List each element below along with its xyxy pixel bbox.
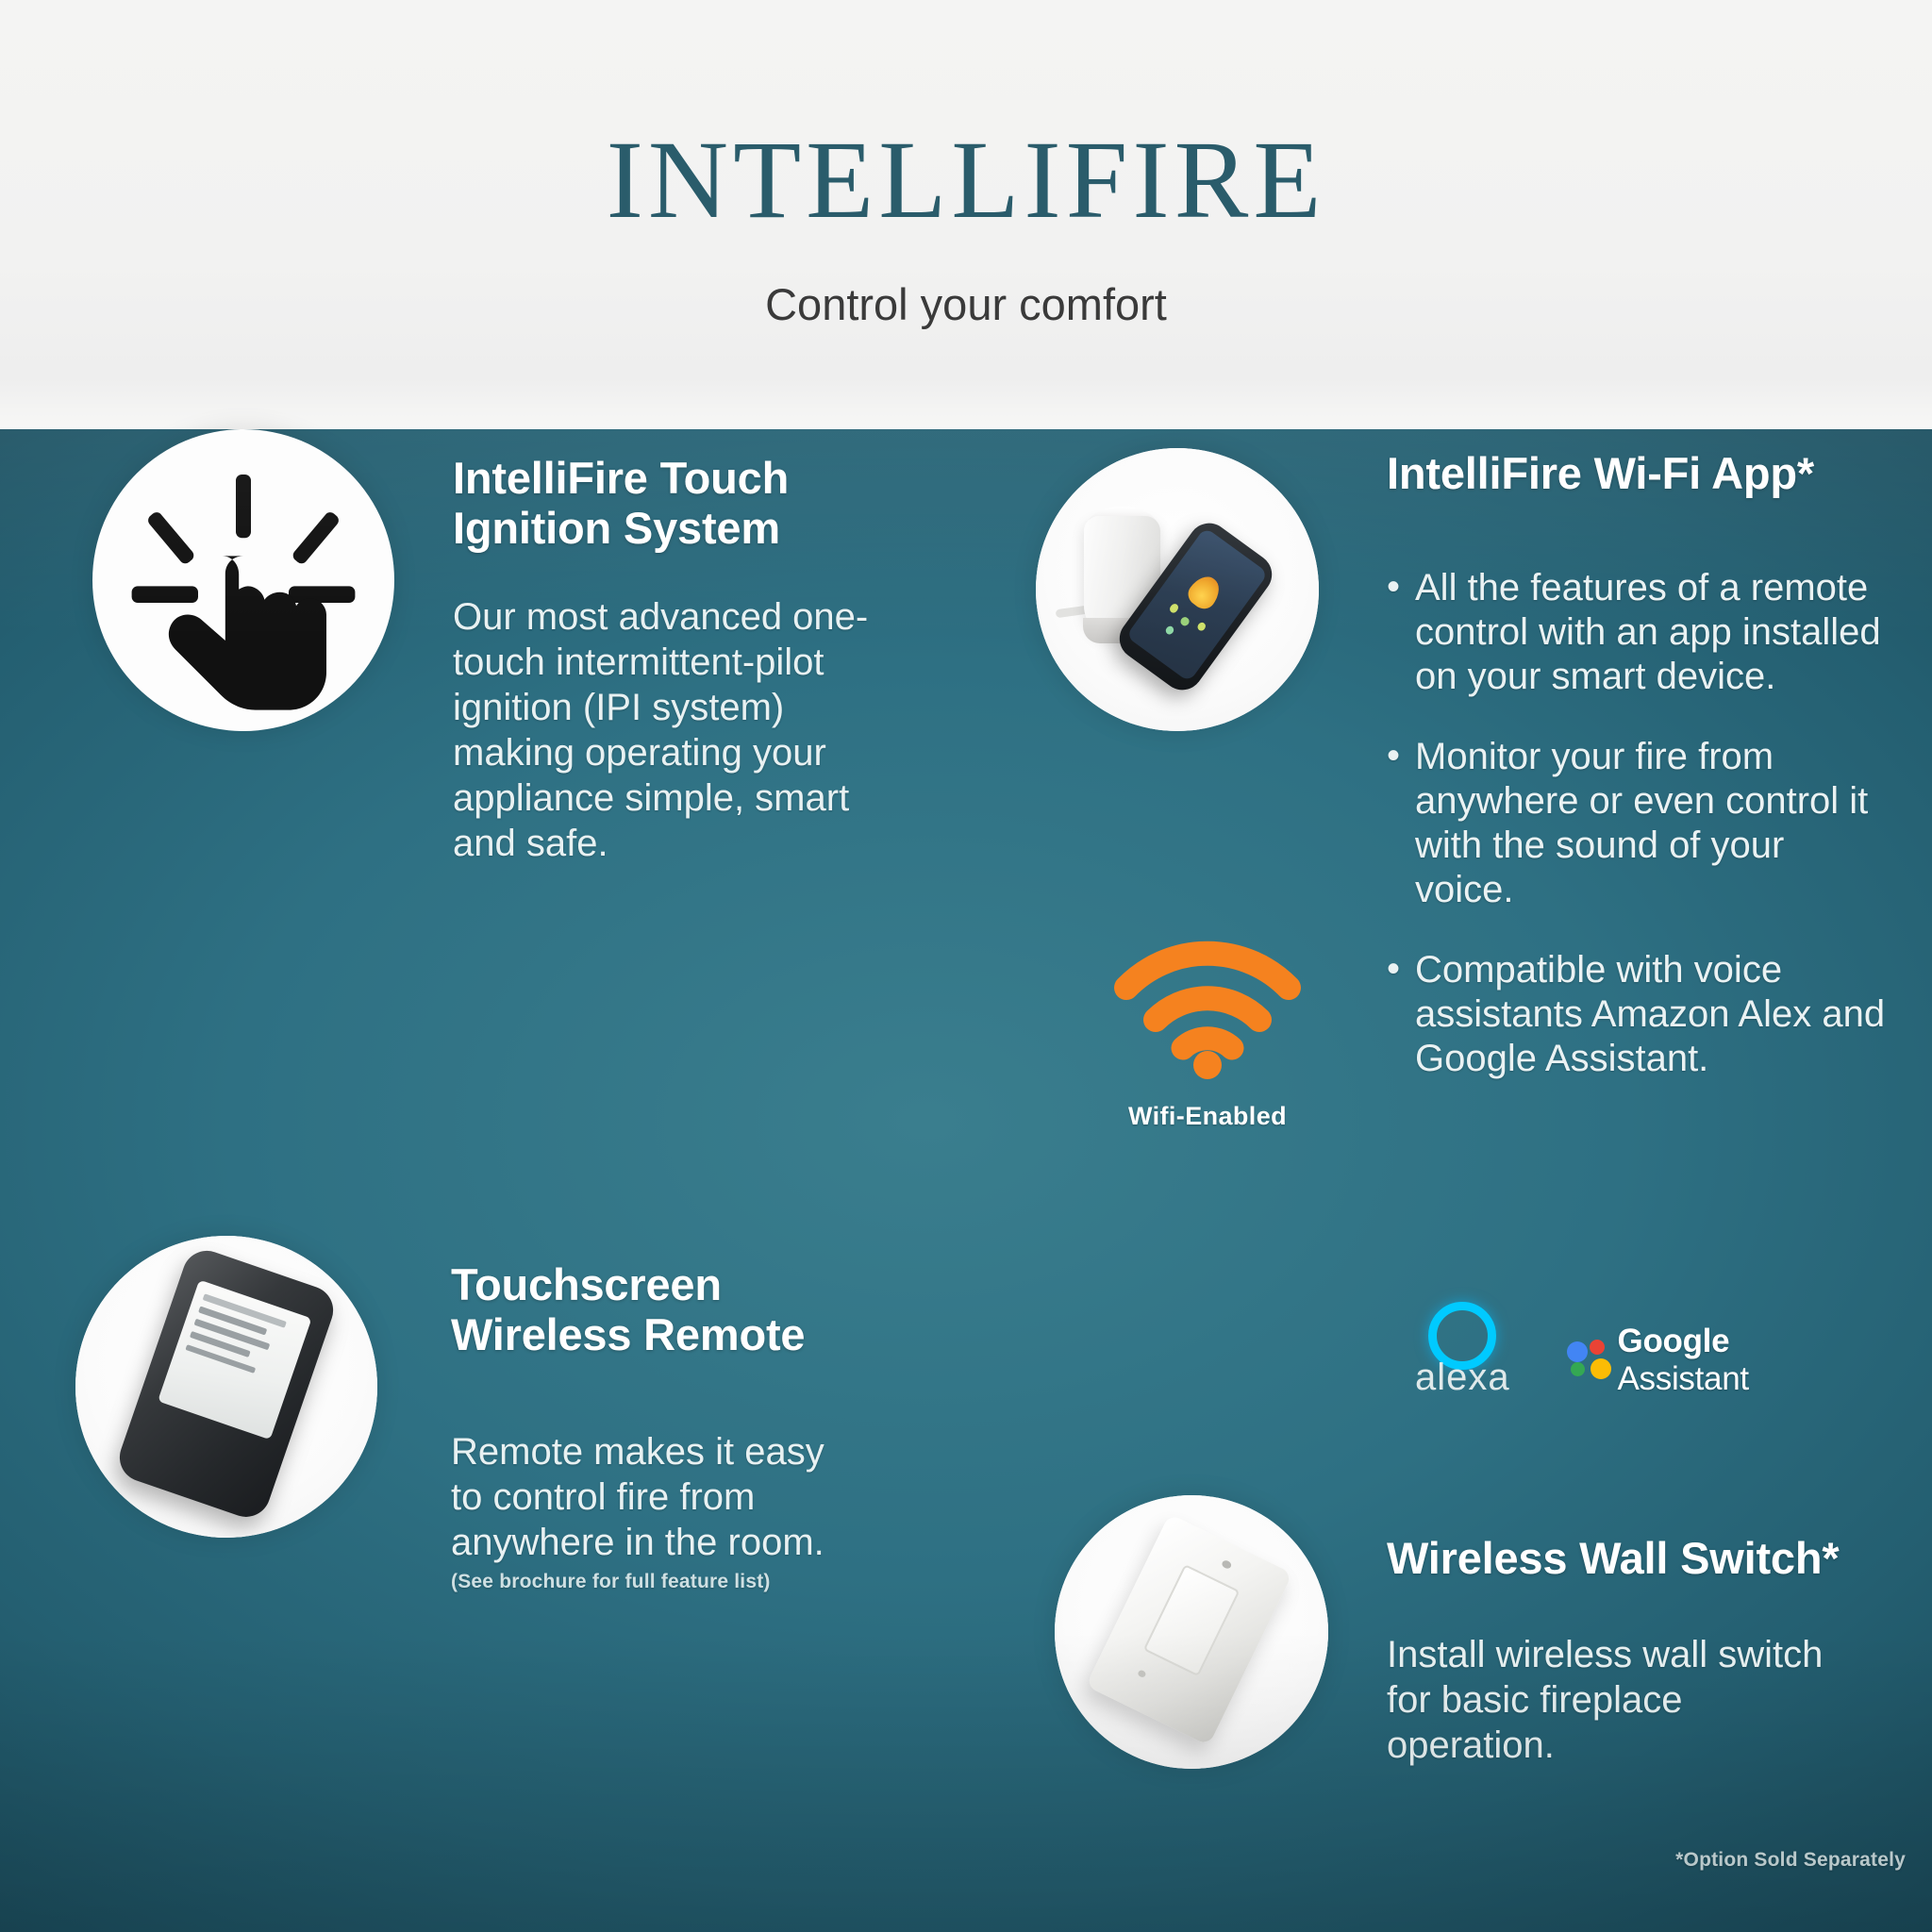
wall-switch-body: Install wireless wall switch for basic f…: [1387, 1632, 1858, 1768]
wall-switch-icon: [1085, 1513, 1291, 1745]
google-assistant-logo: Google Assistant: [1567, 1323, 1783, 1398]
wifi-enabled-badge: Wifi-Enabled: [1094, 939, 1321, 1131]
app-dot: [1168, 603, 1179, 614]
assistant-word: Assistant: [1618, 1360, 1749, 1397]
switch-led: [1220, 1558, 1232, 1570]
wall-switch-photo-circle: [1055, 1495, 1328, 1769]
wifi-icon: [1113, 939, 1302, 1080]
brand-tagline: Control your comfort: [0, 281, 1932, 328]
alexa-label: alexa: [1415, 1357, 1510, 1399]
bullet-item: All the features of a remote control wit…: [1387, 566, 1887, 699]
alexa-logo: alexa: [1415, 1302, 1510, 1399]
features-panel: IntelliFire Touch Ignition System Our mo…: [0, 429, 1932, 1932]
remote-body: Remote makes it easy to control fire fro…: [451, 1429, 866, 1565]
touch-ignition-icon-circle: [92, 429, 394, 731]
touch-hand-icon: [92, 429, 394, 731]
remote-screen: [158, 1280, 312, 1440]
google-assistant-label: Google Assistant: [1618, 1323, 1783, 1398]
header: INTELLIFIRE Control your comfort: [0, 0, 1932, 429]
wall-switch-heading: Wireless Wall Switch*: [1387, 1533, 1915, 1583]
option-footnote: *Option Sold Separately: [1594, 1849, 1906, 1872]
wifi-app-heading: IntelliFire Wi-Fi App*: [1387, 448, 1896, 498]
google-dots-icon: [1567, 1340, 1603, 1381]
brochure-note: (See brochure for full feature list): [451, 1571, 941, 1593]
remote-screen-line: [185, 1344, 256, 1374]
remote-photo-circle: [75, 1236, 377, 1538]
flame-icon: [1184, 571, 1225, 613]
touch-ignition-body: Our most advanced one-touch intermittent…: [453, 594, 906, 866]
brand-title: INTELLIFIRE: [0, 125, 1932, 236]
wifi-enabled-label: Wifi-Enabled: [1094, 1102, 1321, 1131]
bullet-item: Monitor your fire from anywhere or even …: [1387, 735, 1887, 912]
bullet-item: Compatible with voice assistants Amazon …: [1387, 948, 1887, 1081]
switch-rocker: [1142, 1563, 1240, 1676]
switch-led: [1136, 1669, 1146, 1678]
remote-heading: Touchscreen Wireless Remote: [451, 1259, 828, 1359]
google-word: Google: [1618, 1323, 1730, 1359]
infographic-page: INTELLIFIRE Control your comfort Inte: [0, 0, 1932, 1932]
touch-ignition-heading: IntelliFire Touch Ignition System: [453, 453, 849, 553]
wifi-app-bullets: All the features of a remote control wit…: [1387, 566, 1887, 1081]
remote-device-icon: [113, 1244, 341, 1524]
smart-speaker-phone-photo: [1036, 448, 1319, 731]
wall-switch-photo: [1055, 1495, 1328, 1769]
wifi-app-photo-circle: [1036, 448, 1319, 731]
assistant-logos: alexa Google Assistant: [1415, 1302, 1782, 1399]
app-dot: [1196, 621, 1207, 632]
app-dot: [1179, 615, 1191, 626]
app-dot: [1164, 625, 1175, 636]
remote-photo: [75, 1236, 377, 1538]
